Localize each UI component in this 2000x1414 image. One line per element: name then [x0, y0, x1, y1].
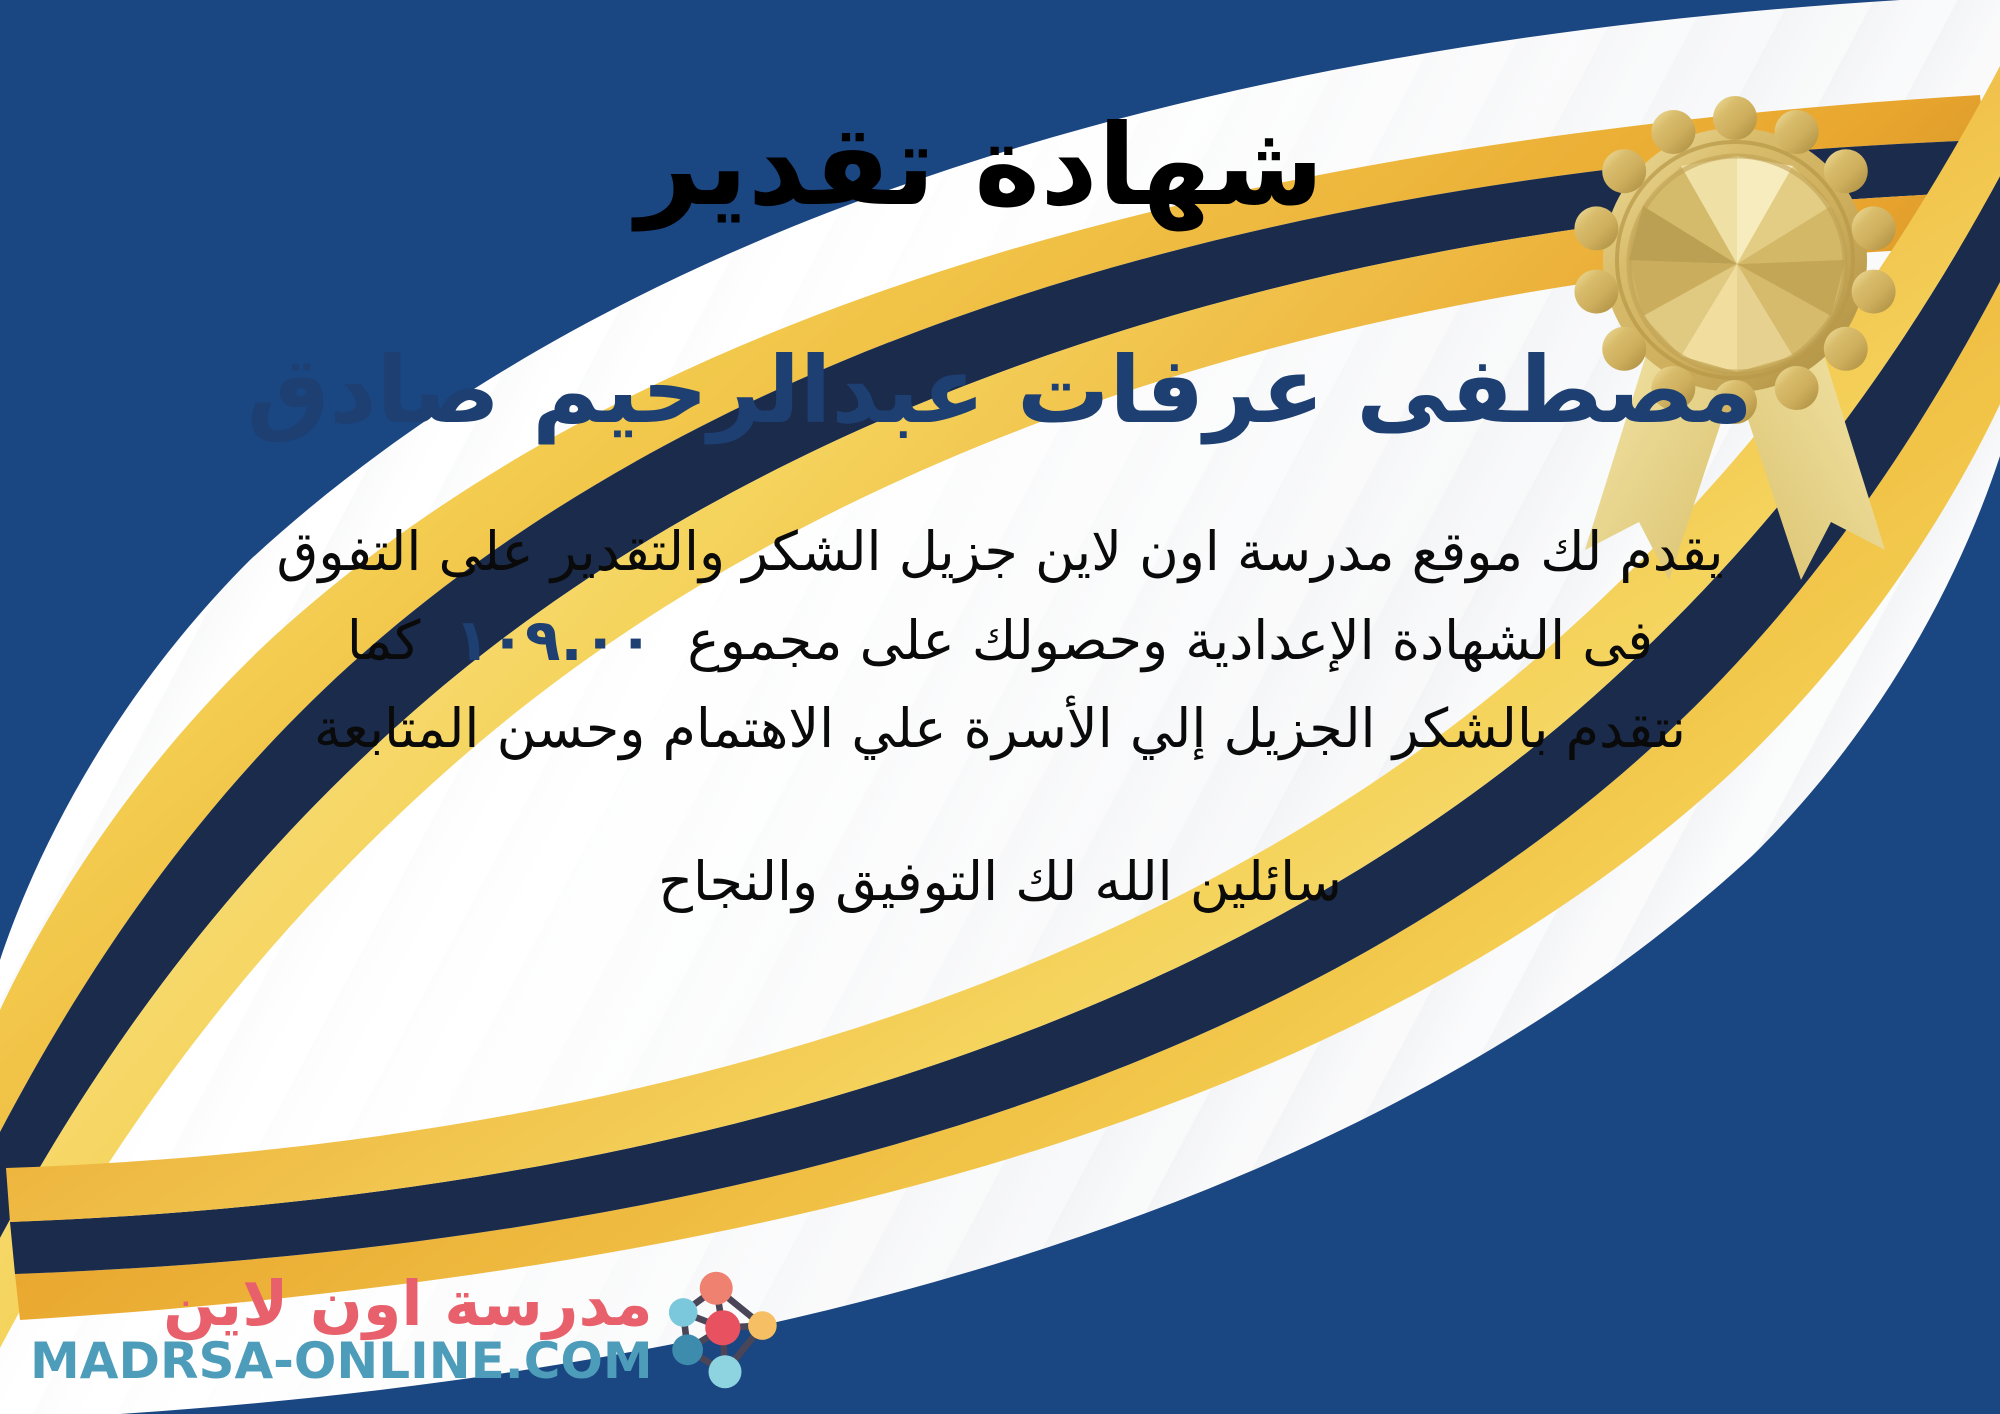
logo-text: مدرسة اون لاين MADRSA-ONLINE.COM [30, 1272, 653, 1388]
certificate-page: شهادة تقدير مصطفى عرفات عبدالرحيم صادق ي… [0, 0, 2000, 1414]
site-logo[interactable]: مدرسة اون لاين MADRSA-ONLINE.COM [30, 1264, 791, 1396]
body-line-2-right-segment: فى الشهادة الإعدادية وحصولك على مجموع [687, 598, 1653, 683]
score-value: ١٠٩.٠٠ [420, 595, 687, 687]
page-title: شهادة تقدير [0, 108, 2000, 226]
body-line-2-left-segment: كما [347, 598, 420, 683]
body-line-2: فى الشهادة الإعدادية وحصولك على مجموع ١٠… [60, 595, 1940, 687]
recipient-name: مصطفى عرفات عبدالرحيم صادق [0, 338, 2000, 444]
certificate-body: يقدم لك موقع مدرسة اون لاين جزيل الشكر و… [60, 509, 1940, 771]
closing-line: سائلين الله لك التوفيق والنجاح [0, 850, 2000, 913]
logo-arabic-name: مدرسة اون لاين [163, 1272, 653, 1335]
logo-website: MADRSA-ONLINE.COM [30, 1335, 653, 1388]
network-nodes-icon [659, 1264, 791, 1396]
body-line-3: نتقدم بالشكر الجزيل إلي الأسرة علي الاهت… [60, 686, 1940, 771]
certificate-content: شهادة تقدير مصطفى عرفات عبدالرحيم صادق ي… [0, 0, 2000, 1414]
body-line-1: يقدم لك موقع مدرسة اون لاين جزيل الشكر و… [60, 509, 1940, 594]
